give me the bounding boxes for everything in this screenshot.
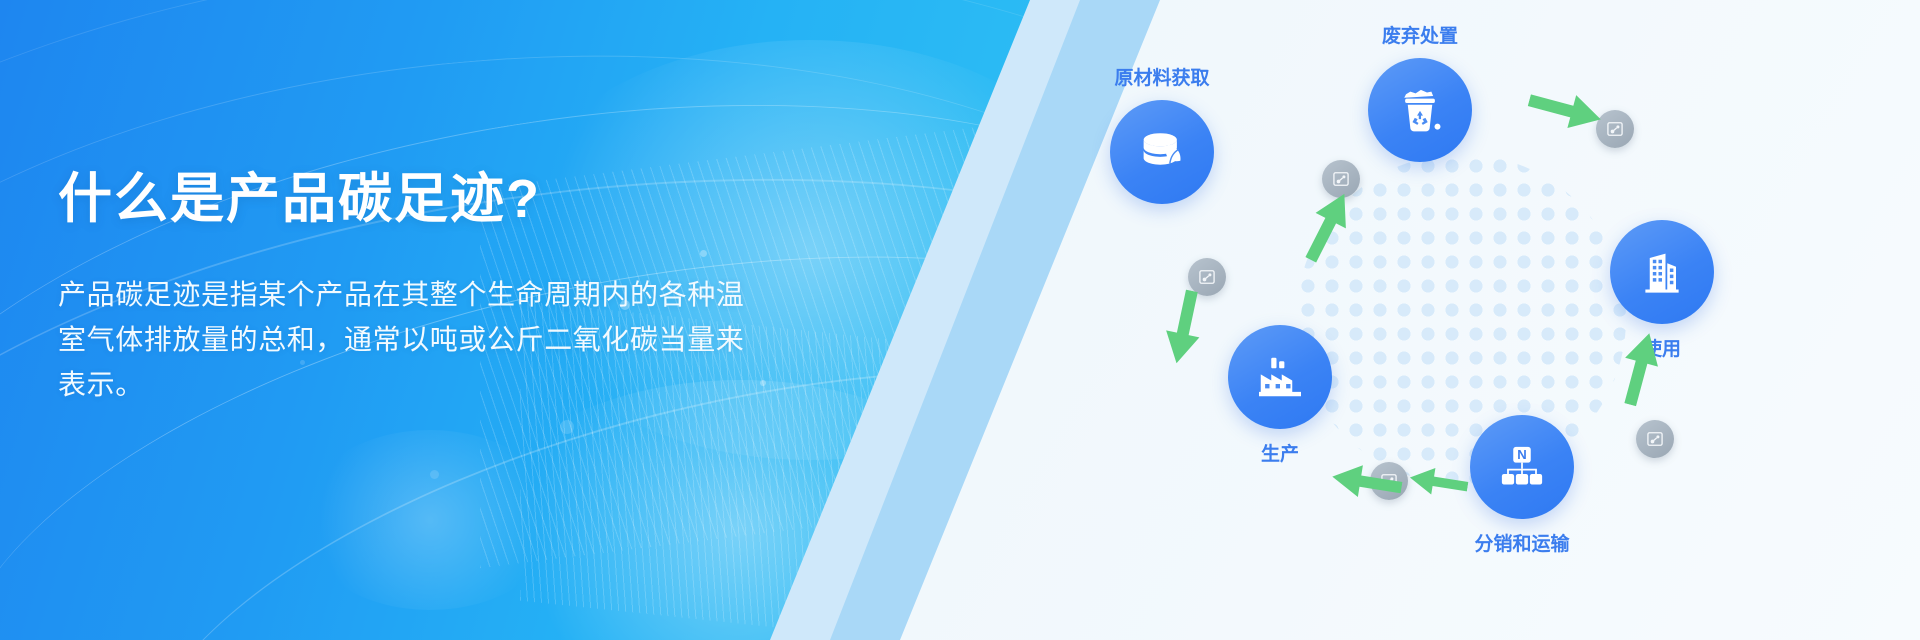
node-label-production: 生产 bbox=[1261, 439, 1299, 466]
buildings-icon bbox=[1610, 220, 1714, 324]
lifecycle-node-waste-disposal[interactable]: 废弃处置 bbox=[1368, 58, 1472, 162]
image-node-badge-icon bbox=[1636, 420, 1674, 458]
lifecycle-node-raw-material[interactable]: 原材料获取 bbox=[1110, 100, 1214, 204]
factory-icon bbox=[1228, 325, 1332, 429]
carbon-footprint-banner: 什么是产品碳足迹? 产品碳足迹是指某个产品在其整个生命周期内的各种温室气体排放量… bbox=[0, 0, 1920, 640]
node-label-raw-material: 原材料获取 bbox=[1114, 63, 1209, 90]
database-leaf-icon bbox=[1110, 100, 1214, 204]
banner-description: 产品碳足迹是指某个产品在其整个生命周期内的各种温室气体排放量的总和，通常以吨或公… bbox=[58, 272, 758, 408]
bokeh-dot bbox=[560, 420, 574, 434]
arrow-green-icon bbox=[1157, 287, 1212, 370]
distribution-network-icon: N bbox=[1470, 415, 1574, 519]
lifecycle-node-use[interactable]: 使用 bbox=[1610, 220, 1714, 324]
lifecycle-node-distribution[interactable]: N 分销和运输 bbox=[1470, 415, 1574, 519]
bokeh-dot bbox=[430, 470, 439, 479]
svg-text:N: N bbox=[1517, 447, 1526, 462]
glow-highlight-3 bbox=[300, 430, 560, 610]
node-label-distribution: 分销和运输 bbox=[1474, 529, 1569, 556]
page-title: 什么是产品碳足迹? bbox=[58, 168, 818, 232]
arrow-green-icon bbox=[1524, 81, 1608, 139]
node-label-waste-disposal: 废弃处置 bbox=[1382, 21, 1458, 48]
lifecycle-diagram: 原材料获取 废弃处置 bbox=[1100, 0, 1920, 640]
arrow-green-icon bbox=[1405, 458, 1471, 507]
banner-copy: 什么是产品碳足迹? 产品碳足迹是指某个产品在其整个生命周期内的各种温室气体排放量… bbox=[58, 168, 818, 408]
recycle-bin-icon bbox=[1368, 58, 1472, 162]
lifecycle-node-production[interactable]: 生产 bbox=[1228, 325, 1332, 429]
